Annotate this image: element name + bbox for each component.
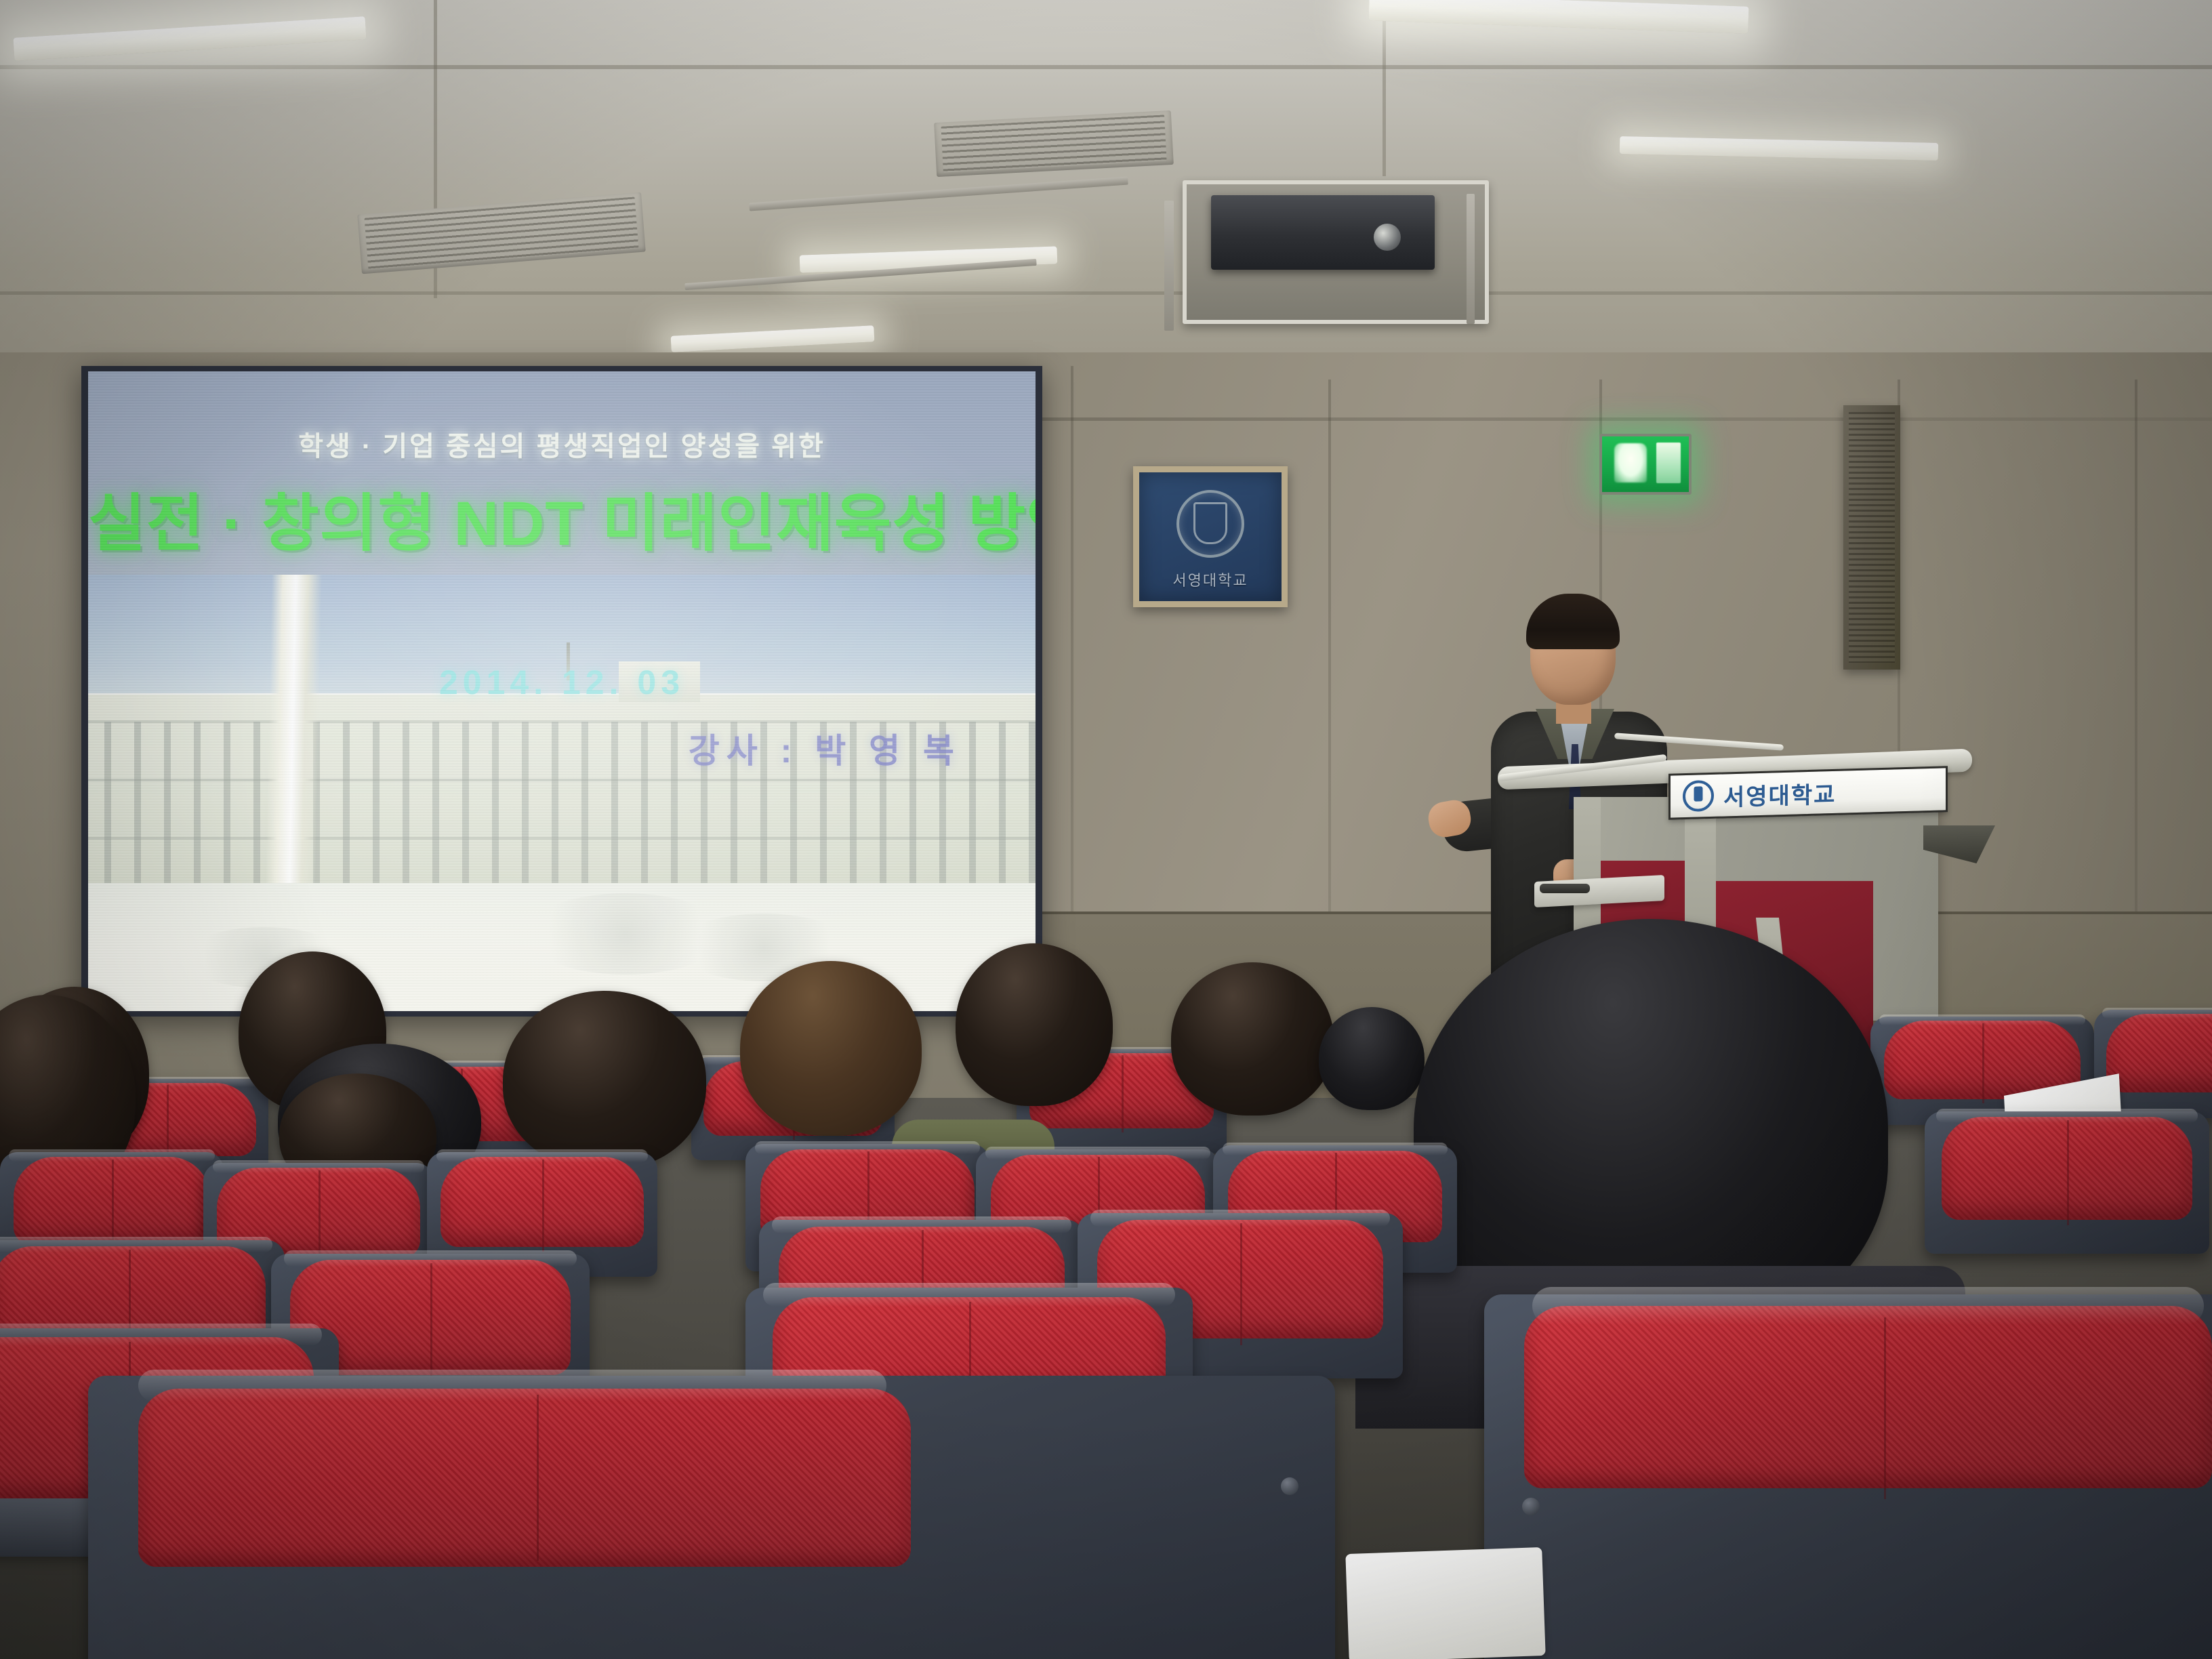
auditorium-seat <box>1484 1294 2212 1659</box>
slide-subtitle: 학생 · 기업 중심의 평생직업인 양성을 위한 <box>88 424 1036 464</box>
seat-highlight <box>2102 1008 2212 1019</box>
podium-sign-label: 서영대학교 <box>1723 775 1836 812</box>
microphone-base-icon <box>1540 884 1590 893</box>
seat-crease <box>430 1263 432 1382</box>
seat-pivot-knob <box>1522 1498 1540 1515</box>
presenter-hair <box>1526 594 1620 649</box>
plaque-label: 서영대학교 <box>1139 569 1282 590</box>
slide-date: 2014. 12. 03 <box>88 663 1036 702</box>
door-icon <box>1656 443 1681 483</box>
projector-lens-icon <box>1374 224 1401 251</box>
seat-pivot-knob <box>1281 1477 1298 1495</box>
seat-crease <box>112 1160 114 1250</box>
seat-crease <box>1884 1317 1886 1500</box>
seat-cushion <box>138 1389 912 1567</box>
projection-screen: 학생 · 기업 중심의 평생직업인 양성을 위한 실전 · 창의형 NDT 미래… <box>88 371 1036 1011</box>
auditorium-seat <box>1925 1111 2209 1254</box>
university-plaque: 서영대학교 <box>1133 466 1288 607</box>
slide-text-layer: 학생 · 기업 중심의 평생직업인 양성을 위한 실전 · 창의형 NDT 미래… <box>88 371 1036 1011</box>
seat-highlight <box>1532 1287 2204 1325</box>
projector-housing <box>1183 180 1489 324</box>
audience-head <box>1319 1007 1425 1110</box>
audience-head <box>956 943 1113 1106</box>
wall-loudspeaker <box>1843 405 1900 670</box>
paper-handout-on-seat <box>1345 1547 1545 1659</box>
running-person-icon <box>1614 443 1647 483</box>
ceiling-projector-icon <box>1211 195 1435 270</box>
seat-crease <box>2067 1120 2069 1225</box>
emergency-exit-icon <box>1599 434 1692 495</box>
seat-crease <box>537 1395 539 1560</box>
projector-mount-arm <box>1164 201 1174 331</box>
projection-screen-frame: 학생 · 기업 중심의 평생직업인 양성을 위한 실전 · 창의형 NDT 미래… <box>81 366 1042 1017</box>
seat-highlight <box>0 1237 272 1252</box>
ceiling <box>0 0 2212 380</box>
wall-trim <box>1037 417 2212 421</box>
audience-head <box>740 961 922 1136</box>
seat-crease <box>542 1160 544 1252</box>
audience-head <box>1171 962 1334 1115</box>
slide-speaker: 강사 : 박 영 복 <box>88 724 1036 773</box>
seat-crease <box>1240 1223 1242 1346</box>
projector-mount-arm <box>1467 194 1475 324</box>
lecture-hall-photo: 학생 · 기업 중심의 평생직업인 양성을 위한 실전 · 창의형 NDT 미래… <box>0 0 2212 1659</box>
slide-title: 실전 · 창의형 NDT 미래인재육성 방안 <box>88 473 1036 563</box>
auditorium-seat <box>88 1376 1335 1659</box>
seat-highlight <box>138 1370 886 1401</box>
ceiling-seam <box>0 291 2212 295</box>
seat-crease <box>1982 1023 1984 1103</box>
ceiling-seam <box>0 65 2212 69</box>
ceiling-seam <box>1382 0 1386 176</box>
audience-head <box>503 991 706 1170</box>
seat-cushion <box>1524 1306 2212 1488</box>
podium-sign: 서영대학교 <box>1668 766 1948 820</box>
seat-crease <box>319 1170 321 1263</box>
seat-highlight <box>0 1324 322 1346</box>
seat-crease <box>167 1085 169 1160</box>
university-roundel-icon <box>1683 780 1714 812</box>
seat-cushion <box>2106 1014 2212 1092</box>
university-crest-icon <box>1176 490 1244 558</box>
seat-crease <box>1122 1055 1124 1132</box>
